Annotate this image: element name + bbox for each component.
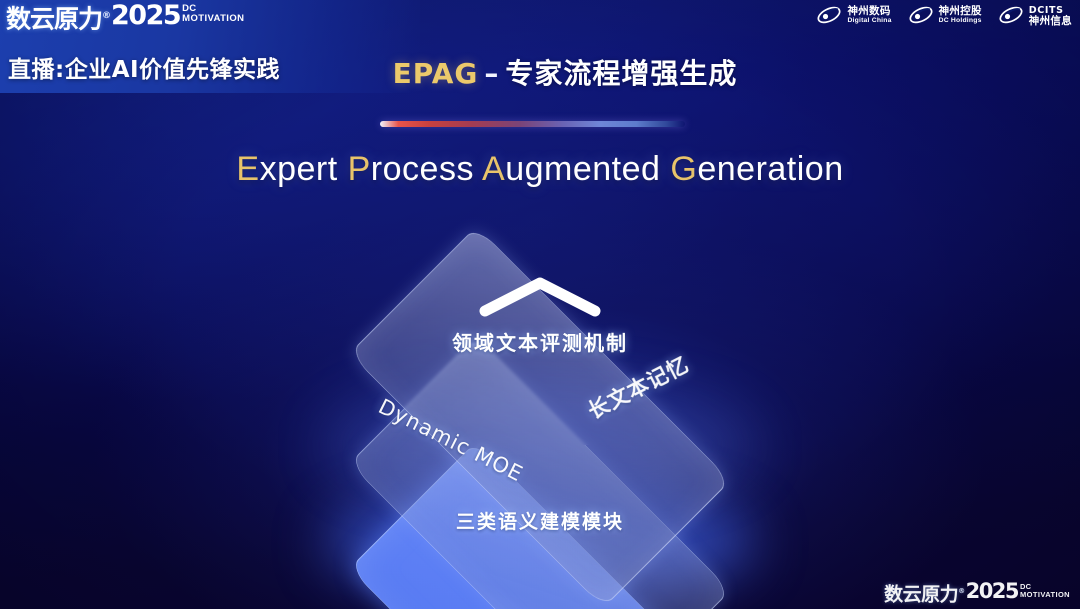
subtitle-rest-process: rocess xyxy=(371,150,474,188)
partner-name-en: DC Holdings xyxy=(939,18,982,25)
chevron-up-icon xyxy=(477,275,603,317)
partner-logo-dcits: DCITS 神州信息 xyxy=(998,3,1072,27)
subtitle-rest-generation: eneration xyxy=(697,150,843,188)
brand-logo: 数云原力® 2025 DC MOTIVATION xyxy=(6,2,244,33)
watermark-subtitle: DC MOTIVATION xyxy=(1020,583,1070,599)
partner-name-en: Digital China xyxy=(847,18,891,25)
swoosh-icon xyxy=(816,3,842,27)
watermark-year: 2025 xyxy=(966,581,1018,602)
partner-logo-dc-holdings: 神州控股 DC Holdings xyxy=(908,3,982,27)
diagram-layer-bottom-label: 三类语义建模模块 xyxy=(0,507,1080,534)
subtitle-cap-g: G xyxy=(670,150,697,188)
title-divider xyxy=(380,121,685,127)
registered-mark-icon: ® xyxy=(102,11,110,21)
swoosh-icon xyxy=(908,3,934,27)
partner-text: 神州控股 DC Holdings xyxy=(939,6,982,25)
partner-name-cn: 神州控股 xyxy=(939,6,982,17)
brand-sub-line2: MOTIVATION xyxy=(182,14,244,24)
title-dash: – xyxy=(484,57,499,90)
subtitle-rest-expert: xpert xyxy=(260,150,338,188)
title-chinese: 专家流程增强生成 xyxy=(505,57,737,90)
swoosh-icon xyxy=(998,3,1024,27)
subtitle-rest-augmented: ugmented xyxy=(505,150,660,188)
partner-logo-group: 神州数码 Digital China 神州控股 DC Holdings xyxy=(816,3,1072,27)
subtitle-word-process: Process xyxy=(348,150,474,188)
watermark-sub-line2: MOTIVATION xyxy=(1020,591,1070,599)
title-acronym: EPAG xyxy=(393,57,479,90)
brand-subtitle: DC MOTIVATION xyxy=(182,4,244,24)
page-subtitle: Expert Process Augmented Generation xyxy=(0,150,1080,189)
partner-name-cn: 神州数码 xyxy=(847,6,891,17)
partner-logo-digital-china: 神州数码 Digital China xyxy=(816,3,891,27)
live-session-label: 直播:企业AI价值先锋实践 xyxy=(8,50,280,84)
subtitle-word-expert: Expert xyxy=(236,150,337,188)
subtitle-word-generation: Generation xyxy=(670,150,843,188)
brand-watermark: 数云原力® 2025 DC MOTIVATION xyxy=(884,581,1070,605)
subtitle-cap-a: A xyxy=(482,150,505,188)
subtitle-cap-p: P xyxy=(348,150,371,188)
watermark-name-cn: 数云原力® xyxy=(884,581,965,605)
partner-text: 神州数码 Digital China xyxy=(847,6,891,25)
slide-stage: 数云原力® 2025 DC MOTIVATION 直播:企业AI价值先锋实践 神… xyxy=(0,0,1080,609)
layer-stack-diagram: 领域文本评测机制 Dynamic MOE 长文本记忆 三类语义建模模块 xyxy=(0,215,1080,595)
brand-year: 2025 xyxy=(111,2,180,30)
diagram-layer-top-label: 领域文本评测机制 xyxy=(0,327,1080,356)
partner-name-cn: 神州信息 xyxy=(1029,16,1072,27)
subtitle-word-augmented: Augmented xyxy=(482,150,660,188)
brand-name-cn: 数云原力® xyxy=(6,2,110,33)
registered-mark-icon: ® xyxy=(958,587,965,595)
subtitle-cap-e: E xyxy=(236,150,259,188)
partner-text: DCITS 神州信息 xyxy=(1029,4,1072,26)
